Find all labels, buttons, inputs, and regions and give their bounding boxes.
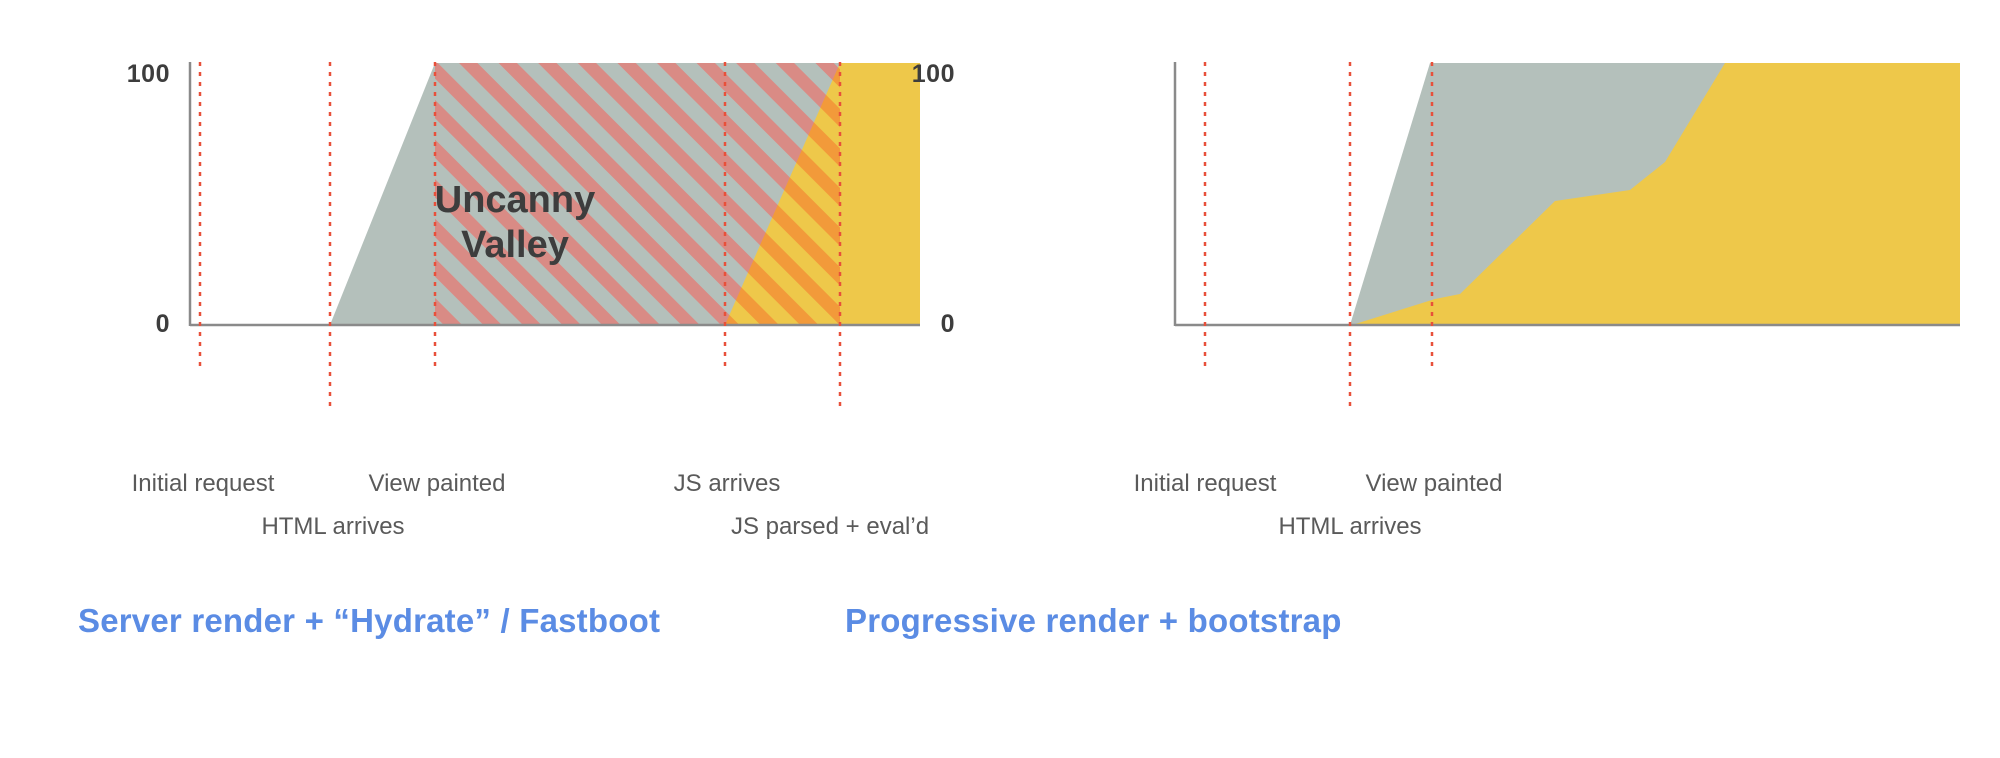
x-label-view-painted-right: View painted <box>1366 470 1503 498</box>
plot-svg-right <box>0 0 2000 560</box>
x-label-initial-request-right: Initial request <box>1134 470 1277 498</box>
x-label-html-arrives-right: HTML arrives <box>1278 513 1421 541</box>
chart-caption-right: Progressive render + bootstrap <box>845 602 1342 640</box>
plot-area-right <box>0 0 2000 560</box>
chart-caption-left: Server render + “Hydrate” / Fastboot <box>78 602 660 640</box>
chart-panel-progressive-render: 100 0 Initial request HTML arrives View … <box>1000 0 2000 758</box>
